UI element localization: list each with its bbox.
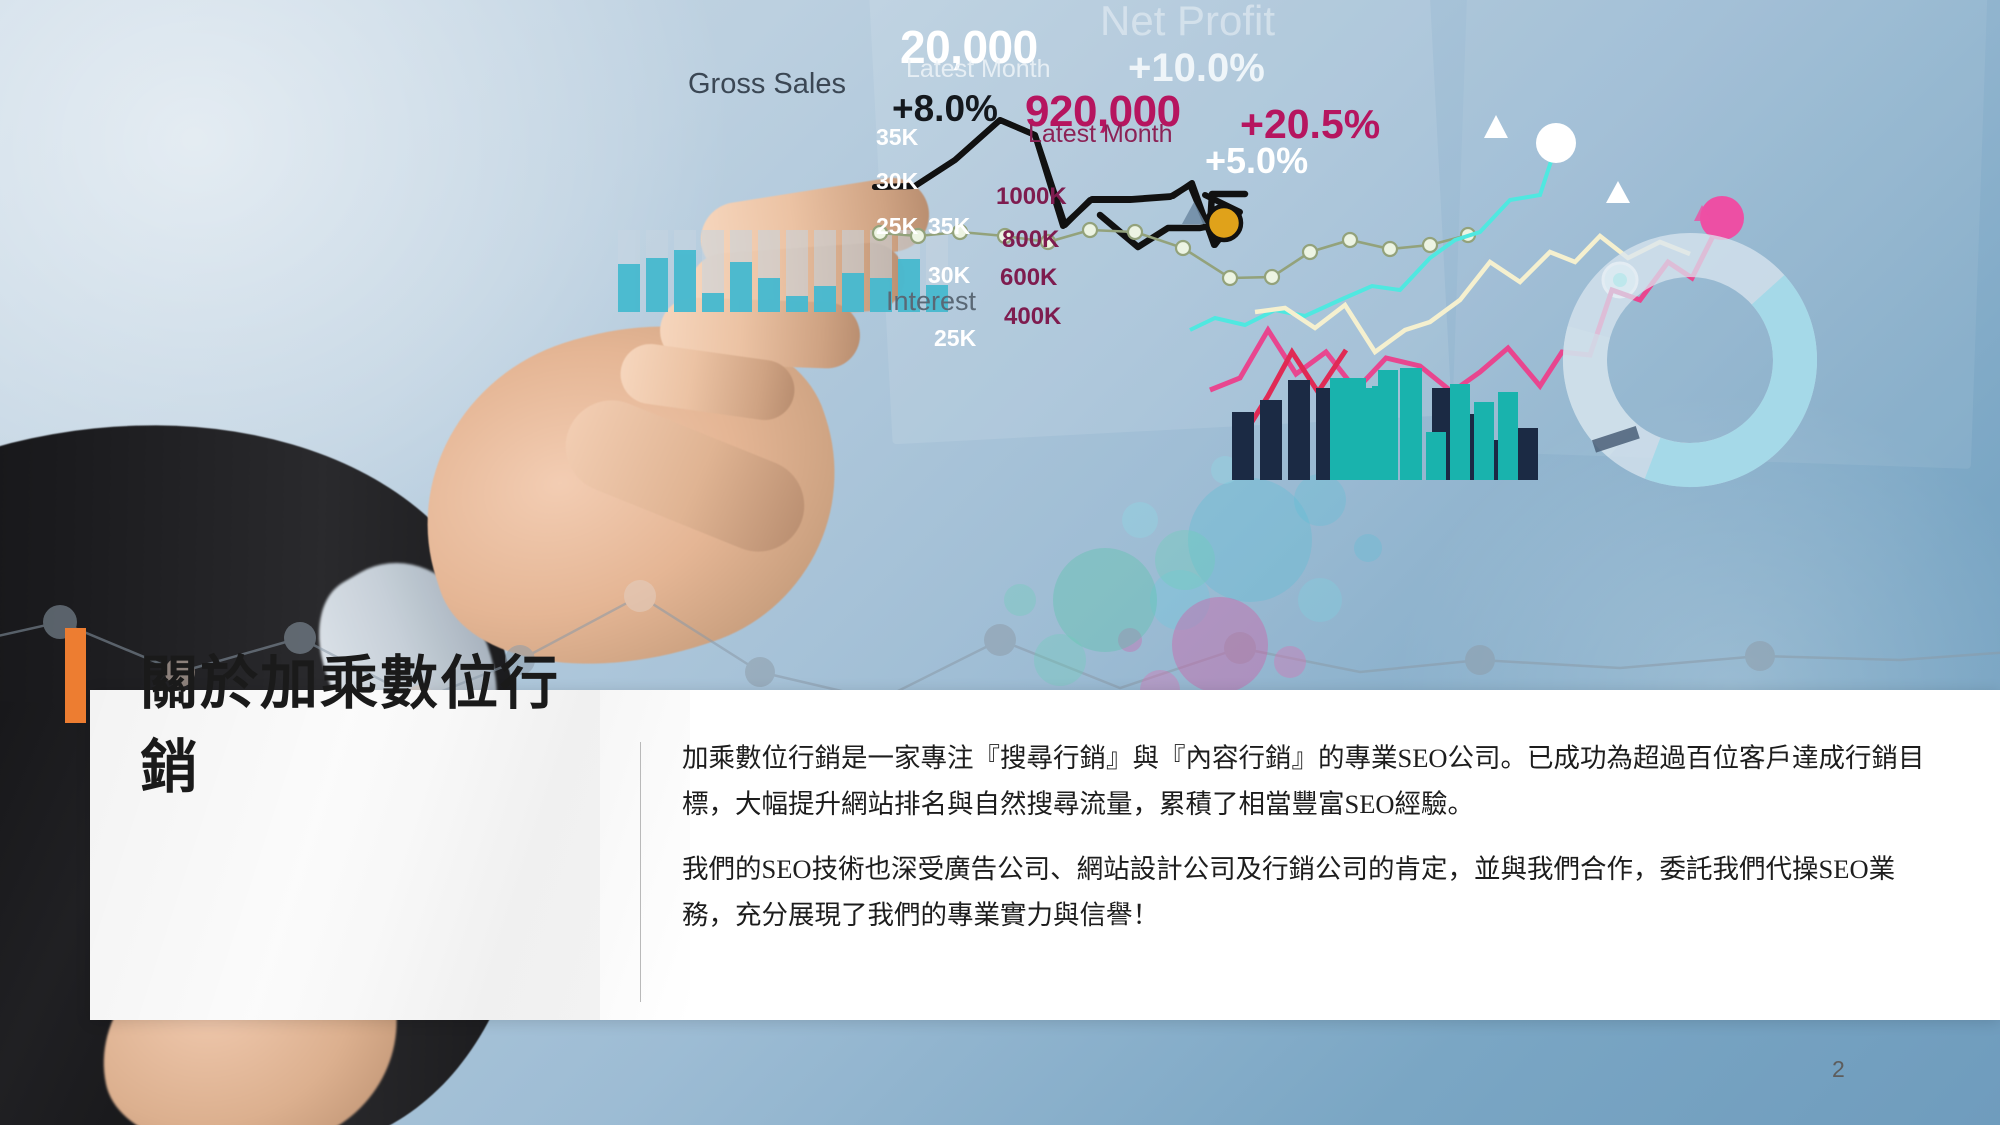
axis-35k-b: 35K (928, 215, 970, 238)
axis-30k-a: 30K (876, 170, 918, 193)
axis-1000k: 1000K (996, 185, 1067, 209)
axis-30k-b: 30K (928, 264, 970, 287)
body-text: 加乘數位行銷是一家專注『搜尋行銷』與『內容行銷』的專業SEO公司。已成功為超過百… (682, 736, 1942, 938)
pct-8: +8.0% (892, 90, 998, 127)
net-profit-label: Net Profit (1100, 0, 1275, 42)
page-title: 關於加乘數位行銷 (140, 636, 610, 804)
interest-label: Interest (886, 288, 976, 315)
pct-205: +20.5% (1240, 104, 1380, 145)
vertical-divider (640, 742, 641, 1002)
pct-10: +10.0% (1128, 48, 1265, 88)
gross-sales-label: Gross Sales (688, 70, 846, 99)
latest-month-1: Latest Month (906, 57, 1051, 82)
accent-bar (65, 628, 86, 723)
axis-25k-a: 25K (876, 215, 918, 238)
axis-35k-a: 35K (876, 126, 918, 149)
axis-400k: 400K (1004, 305, 1061, 329)
slide-canvas: Gross Sales 20,000 Latest Month +8.0% Ne… (0, 0, 2000, 1125)
axis-800k: 800K (1002, 228, 1059, 252)
body-paragraph-2: 我們的SEO技術也深受廣告公司、網站設計公司及行銷公司的肯定，並與我們合作，委託… (682, 847, 1942, 938)
axis-25k-b: 25K (934, 327, 976, 350)
axis-600k: 600K (1000, 266, 1057, 290)
latest-month-2: Latest Month (1028, 122, 1173, 147)
pct-5: +5.0% (1205, 143, 1308, 179)
body-paragraph-1: 加乘數位行銷是一家專注『搜尋行銷』與『內容行銷』的專業SEO公司。已成功為超過百… (682, 736, 1942, 827)
page-number: 2 (1832, 1056, 1845, 1083)
